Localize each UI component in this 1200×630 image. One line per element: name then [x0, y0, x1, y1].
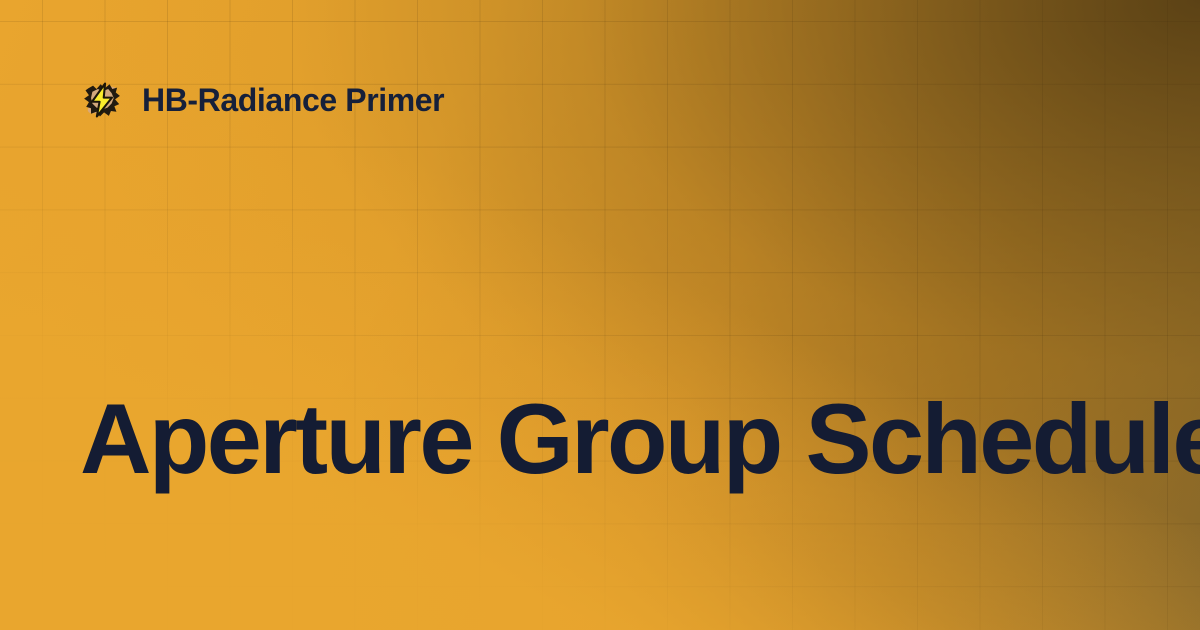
high-voltage-lightning-icon	[80, 78, 124, 122]
brand-lockup: HB-Radiance Primer	[80, 78, 444, 122]
open-graph-card: HB-Radiance Primer Aperture Group Schedu…	[0, 0, 1200, 630]
brand-name-label: HB-Radiance Primer	[142, 84, 444, 116]
page-title: Aperture Group Schedule	[80, 387, 1120, 492]
card-content: HB-Radiance Primer Aperture Group Schedu…	[0, 0, 1200, 630]
